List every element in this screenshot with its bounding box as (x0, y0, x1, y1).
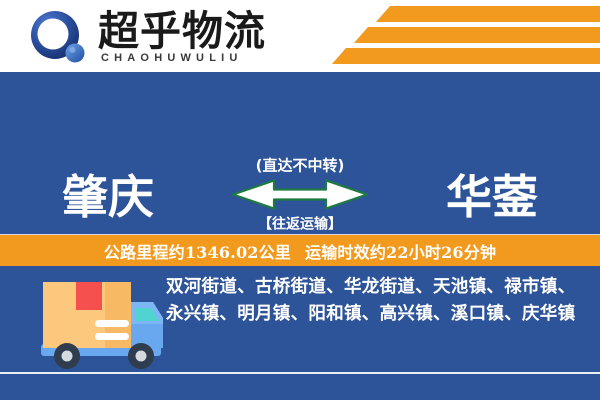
destination-city: 华蓥 (446, 171, 538, 223)
duration-text: 运输时效约22小时26分钟 (305, 239, 496, 263)
banner-header: 超乎物流 CHAOHUWULIU (0, 0, 600, 72)
route-section: 肇庆 (直达不中转) 【往返运输】 华蓥 (0, 75, 600, 232)
route-info-bar: 公路里程约1346.02公里 运输时效约22小时26分钟 (0, 234, 600, 267)
brand-name-pinyin: CHAOHUWULIU (101, 52, 243, 64)
logistics-route-banner: 超乎物流 CHAOHUWULIU 肇庆 (直达不中转) 【往返运输】 华蓥 公路… (0, 0, 600, 400)
origin-city: 肇庆 (62, 171, 154, 223)
circle-crescent-logo-icon (28, 10, 90, 66)
delivery-truck-icon (27, 276, 167, 378)
orange-stripes-icon (310, 6, 600, 68)
distance-text: 公路里程约1346.02公里 (104, 239, 291, 263)
coverage-section: 双河街道、古桥街道、华龙街道、天池镇、禄市镇、永兴镇、明月镇、阳和镇、高兴镇、溪… (0, 268, 600, 400)
coverage-areas-text: 双河街道、古桥街道、华龙街道、天池镇、禄市镇、永兴镇、明月镇、阳和镇、高兴镇、溪… (166, 274, 584, 328)
brand-name-cn: 超乎物流 (98, 8, 266, 54)
route-arrow-block: (直达不中转) 【往返运输】 (200, 157, 400, 234)
double-headed-arrow-icon (200, 178, 400, 212)
coverage-divider (0, 372, 600, 374)
arrow-caption-bottom: 【往返运输】 (200, 216, 400, 234)
arrow-caption-top: (直达不中转) (200, 157, 400, 175)
